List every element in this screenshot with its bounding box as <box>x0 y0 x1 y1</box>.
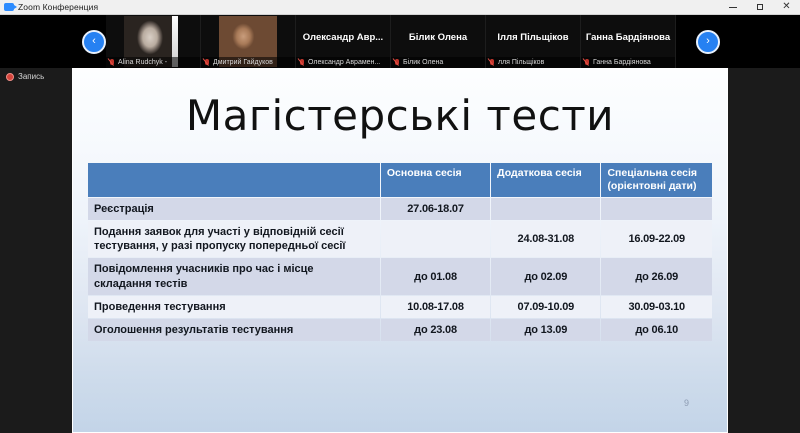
participant-name-text: Олександр Аврамен... <box>308 59 380 66</box>
row-label: Повідомлення учасників про час і місце с… <box>88 258 380 294</box>
participant-tile[interactable]: Олександр Авр... Олександр Аврамен... <box>296 15 391 68</box>
microphone-muted-icon <box>489 59 495 67</box>
participant-name-label: Alina Rudchyk - <box>106 57 200 68</box>
minimize-button[interactable] <box>719 0 746 14</box>
participant-name-text: лля Пільщіков <box>498 59 544 66</box>
table-header-cell-main-session: Основна сесія <box>381 163 490 197</box>
table-row: Повідомлення учасників про час і місце с… <box>88 258 712 294</box>
participant-name-label: Ганна Бардіянова <box>581 57 675 68</box>
close-button[interactable]: ✕ <box>773 0 800 14</box>
row-value-extra: до 02.09 <box>491 258 600 294</box>
row-label: Реєстрація <box>88 198 380 220</box>
window-controls: ✕ <box>719 0 800 14</box>
row-value-main: 10.08-17.08 <box>381 296 490 318</box>
participant-tile[interactable]: Ілля Пільщіков лля Пільщіков <box>486 15 581 68</box>
row-value-special <box>601 198 712 220</box>
table-row: Проведення тестування 10.08-17.08 07.09-… <box>88 296 712 318</box>
row-value-main <box>381 221 490 257</box>
row-value-special: 16.09-22.09 <box>601 221 712 257</box>
row-value-special: до 06.10 <box>601 319 712 341</box>
restore-icon <box>757 4 763 10</box>
microphone-muted-icon <box>204 59 210 67</box>
filmstrip-next-button[interactable]: › <box>696 30 720 54</box>
participant-name-label: Дмитрий Гайдуков <box>201 57 295 68</box>
row-value-extra <box>491 198 600 220</box>
schedule-table: Основна сесія Додаткова сесія Спеціальна… <box>87 162 713 342</box>
row-value-extra: 24.08-31.08 <box>491 221 600 257</box>
table-row: Оголошення результатів тестування до 23.… <box>88 319 712 341</box>
maximize-button[interactable] <box>746 0 773 14</box>
microphone-muted-icon <box>584 59 590 67</box>
participant-name-label: лля Пільщіков <box>486 57 580 68</box>
schedule-table-container: Основна сесія Додаткова сесія Спеціальна… <box>73 162 727 342</box>
row-value-extra: до 13.09 <box>491 319 600 341</box>
participant-name-text: Alina Rudchyk - <box>118 59 167 66</box>
participant-tile[interactable]: Alina Rudchyk - <box>106 15 201 68</box>
recording-label: Запись <box>18 72 44 81</box>
close-icon: ✕ <box>782 2 790 12</box>
chevron-left-icon: ‹ <box>92 36 96 47</box>
participant-name-text: Дмитрий Гайдуков <box>213 59 273 66</box>
participant-tile[interactable]: Білик Олена Білик Олена <box>391 15 486 68</box>
chevron-right-icon: › <box>706 36 710 47</box>
microphone-muted-icon <box>394 59 400 67</box>
window-title-bar: Zoom Конференция ✕ <box>0 0 800 15</box>
slide-number: 9 <box>684 398 689 408</box>
row-value-main: до 01.08 <box>381 258 490 294</box>
row-label: Оголошення результатів тестування <box>88 319 380 341</box>
row-value-special: до 26.09 <box>601 258 712 294</box>
table-header-row: Основна сесія Додаткова сесія Спеціальна… <box>88 163 712 197</box>
window-title: Zoom Конференция <box>18 2 98 12</box>
filmstrip-prev-button[interactable]: ‹ <box>82 30 106 54</box>
participant-tile[interactable]: Дмитрий Гайдуков <box>201 15 296 68</box>
participant-tiles: Alina Rudchyk - Дмитрий Гайдуков Олексан… <box>106 15 676 68</box>
recording-indicator[interactable]: Запись <box>6 72 44 81</box>
shared-screen-slide: Магістерські тести Основна сесія Додатко… <box>72 68 728 433</box>
row-value-main: 27.06-18.07 <box>381 198 490 220</box>
zoom-camera-icon <box>4 3 14 11</box>
table-header-cell-blank <box>88 163 380 197</box>
microphone-muted-icon <box>109 59 115 67</box>
participant-name-text: Ганна Бардіянова <box>593 59 651 66</box>
table-header-cell-extra-session: Додаткова сесія <box>491 163 600 197</box>
row-value-extra: 07.09-10.09 <box>491 296 600 318</box>
participant-name-text: Білик Олена <box>403 59 443 66</box>
microphone-muted-icon <box>299 59 305 67</box>
row-value-special: 30.09-03.10 <box>601 296 712 318</box>
table-header-cell-special-session: Спеціальна сесія (орієнтовні дати) <box>601 163 712 197</box>
participant-tile[interactable]: Ганна Бардіянова Ганна Бардіянова <box>581 15 676 68</box>
zoom-meeting-window: ‹ Alina Rudchyk - Дмитрий Гайдуков <box>0 15 800 433</box>
participant-name-label: Білик Олена <box>391 57 485 68</box>
participant-name-label: Олександр Аврамен... <box>296 57 390 68</box>
table-row: Реєстрація 27.06-18.07 <box>88 198 712 220</box>
slide-title: Магістерські тести <box>73 91 727 140</box>
row-label: Подання заявок для участі у відповідній … <box>88 221 380 257</box>
row-label: Проведення тестування <box>88 296 380 318</box>
recording-dot-icon <box>6 73 14 81</box>
participant-filmstrip: ‹ Alina Rudchyk - Дмитрий Гайдуков <box>0 15 800 68</box>
table-row: Подання заявок для участі у відповідній … <box>88 221 712 257</box>
row-value-main: до 23.08 <box>381 319 490 341</box>
minimize-icon <box>729 7 737 8</box>
